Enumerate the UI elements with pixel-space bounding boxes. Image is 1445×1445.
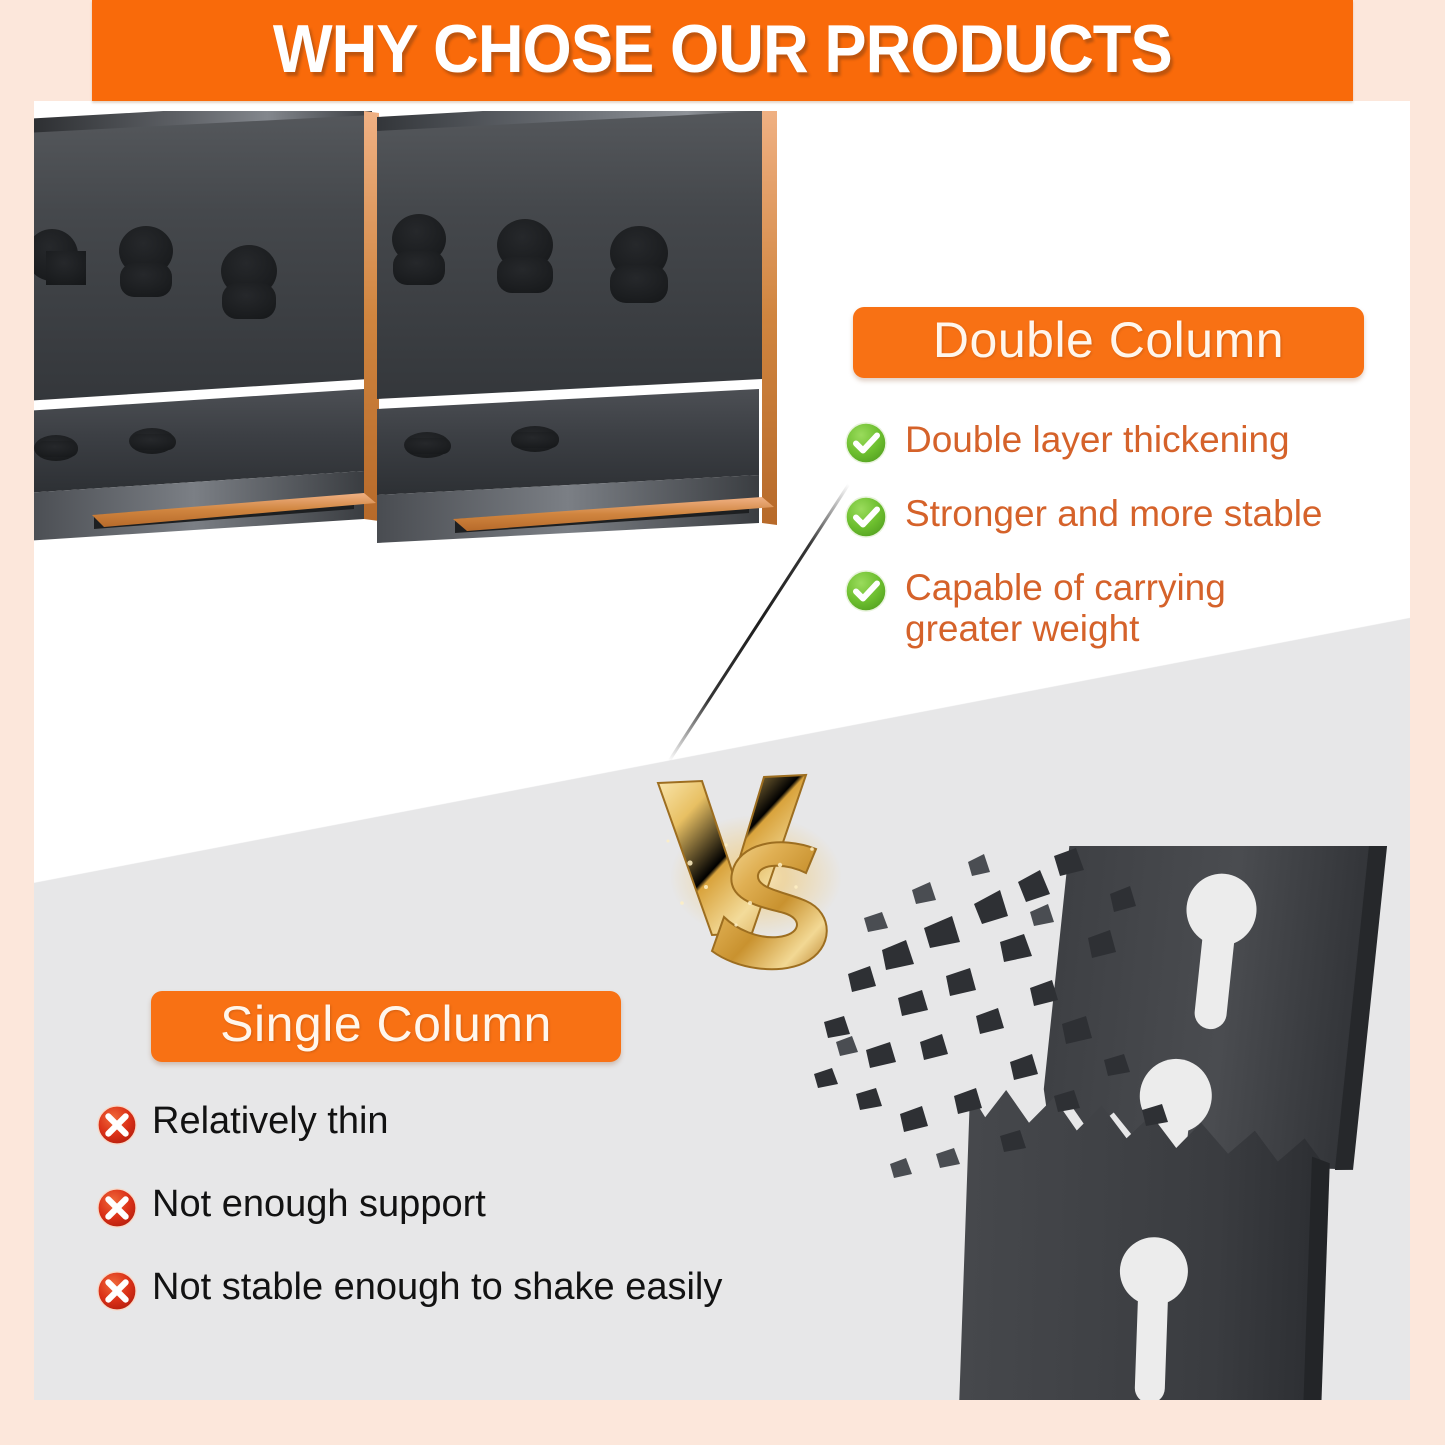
versus-emblem	[630, 737, 890, 987]
double-column-benefits-list: Double layer thickening Stronger and mor…	[844, 419, 1410, 678]
list-item: Not enough support	[96, 1184, 856, 1229]
check-circle-icon	[844, 569, 888, 613]
x-circle-icon	[96, 1270, 138, 1312]
double-column-badge-label: Double Column	[933, 315, 1284, 370]
x-circle-icon	[96, 1104, 138, 1146]
list-item-label: Not enough support	[152, 1184, 486, 1226]
x-circle-icon	[96, 1187, 138, 1229]
list-item: Double layer thickening	[844, 419, 1410, 465]
list-item: Relatively thin	[96, 1101, 856, 1146]
list-item: Not stable enough to shake easily	[96, 1267, 856, 1312]
page-title: WHY CHOSE OUR PRODUCTS	[273, 15, 1172, 87]
header-banner: WHY CHOSE OUR PRODUCTS	[92, 0, 1353, 101]
single-column-badge: Single Column	[151, 991, 621, 1062]
list-item-label: Stronger and more stable	[905, 493, 1323, 534]
broken-single-column-image	[804, 846, 1410, 1400]
list-item-label: Double layer thickening	[905, 419, 1290, 460]
list-item-label: Not stable enough to shake easily	[152, 1267, 722, 1309]
list-item-label: Capable of carrying greater weight	[905, 567, 1226, 650]
check-circle-icon	[844, 421, 888, 465]
single-column-drawbacks-list: Relatively thin Not enough support Not s…	[96, 1101, 856, 1350]
double-column-rails-image	[34, 111, 804, 591]
infographic-root: WHY CHOSE OUR PRODUCTS	[0, 0, 1445, 1445]
list-item: Stronger and more stable	[844, 493, 1410, 539]
check-circle-icon	[844, 495, 888, 539]
list-item-label: Relatively thin	[152, 1101, 389, 1143]
single-column-badge-label: Single Column	[220, 999, 552, 1054]
double-column-badge: Double Column	[853, 307, 1364, 378]
comparison-canvas: Double Column Double layer thickening	[34, 101, 1410, 1400]
list-item: Capable of carrying greater weight	[844, 567, 1410, 650]
